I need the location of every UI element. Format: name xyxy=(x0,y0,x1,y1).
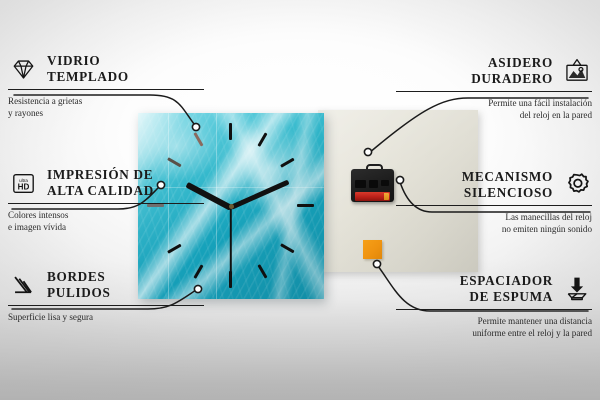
hour-tick xyxy=(167,244,181,254)
hour-tick xyxy=(297,204,314,207)
feature-header: VIDRIO TEMPLADO xyxy=(8,52,204,86)
feature-divider xyxy=(396,205,592,206)
feature-asidero-duradero: ASIDERO DURADERO Permite una fácil insta… xyxy=(396,54,592,121)
feature-subtitle: Permite una fácil instalación del reloj … xyxy=(396,97,592,121)
foam-spacer-sample xyxy=(363,240,382,259)
mechanism-slot xyxy=(381,180,389,186)
hour-tick xyxy=(280,244,294,254)
gear-icon xyxy=(562,170,592,200)
battery xyxy=(355,192,390,201)
feature-divider xyxy=(8,305,204,306)
connector-endpoint xyxy=(364,148,371,155)
polished-edges-icon xyxy=(8,270,38,300)
feature-impresion-alta-calidad: ultra HD IMPRESIÓN DE ALTA CALIDAD Color… xyxy=(8,166,204,233)
feature-header: BORDES PULIDOS xyxy=(8,268,204,302)
feature-subtitle: Colores intensos e imagen vívida xyxy=(8,209,204,233)
mechanism-body xyxy=(351,169,394,202)
mechanism-hanger-hook xyxy=(366,164,383,174)
feature-divider xyxy=(396,91,592,92)
feature-mecanismo-silencioso: MECANISMO SILENCIOSO Las manecillas del … xyxy=(396,168,592,235)
hour-tick xyxy=(280,158,294,168)
feature-title: ESPACIADOR DE ESPUMA xyxy=(460,273,553,304)
connector-endpoint xyxy=(373,260,380,267)
hour-tick xyxy=(229,123,232,140)
ultra-hd-badge-icon: ultra HD xyxy=(8,168,38,198)
feature-header: ESPACIADOR DE ESPUMA xyxy=(396,272,592,306)
hour-tick xyxy=(193,132,203,146)
mechanism-slot xyxy=(369,180,378,188)
feature-subtitle: Permite mantener una distancia uniforme … xyxy=(396,315,592,339)
feature-header: ultra HD IMPRESIÓN DE ALTA CALIDAD xyxy=(8,166,204,200)
feature-title: MECANISMO SILENCIOSO xyxy=(462,169,553,200)
svg-text:HD: HD xyxy=(17,182,29,191)
feature-divider xyxy=(396,309,592,310)
minute-hand xyxy=(230,180,290,210)
clock-center-pin xyxy=(229,204,234,209)
feature-subtitle: Resistencia a grietas y rayones xyxy=(8,95,204,119)
hour-tick xyxy=(257,132,267,146)
mechanism-slot xyxy=(355,180,366,188)
foam-spacer-icon xyxy=(562,274,592,304)
feature-bordes-pulidos: BORDES PULIDOS Superficie lisa y segura xyxy=(8,268,204,323)
second-hand xyxy=(230,207,232,279)
picture-hanger-icon xyxy=(562,56,592,86)
feature-title: VIDRIO TEMPLADO xyxy=(47,53,129,84)
feature-vidrio-templado: VIDRIO TEMPLADO Resistencia a grietas y … xyxy=(8,52,204,119)
battery-positive-cap xyxy=(384,193,389,200)
diamond-icon xyxy=(8,54,38,84)
feature-header: MECANISMO SILENCIOSO xyxy=(396,168,592,202)
feature-divider xyxy=(8,203,204,204)
feature-divider xyxy=(8,89,204,90)
connector-endpoint xyxy=(192,123,199,130)
feature-title: ASIDERO DURADERO xyxy=(471,55,553,86)
feature-title: IMPRESIÓN DE ALTA CALIDAD xyxy=(47,167,154,198)
infographic-canvas: VIDRIO TEMPLADO Resistencia a grietas y … xyxy=(0,0,600,400)
hour-tick xyxy=(229,271,232,288)
feature-header: ASIDERO DURADERO xyxy=(396,54,592,88)
feature-subtitle: Superficie lisa y segura xyxy=(8,311,204,323)
feature-subtitle: Las manecillas del reloj no emiten ningú… xyxy=(396,211,592,235)
feature-espaciador-de-espuma: ESPACIADOR DE ESPUMA Permite mantener un… xyxy=(396,272,592,339)
feature-title: BORDES PULIDOS xyxy=(47,269,111,300)
hour-tick xyxy=(257,264,267,278)
clock-mechanism xyxy=(351,164,394,202)
